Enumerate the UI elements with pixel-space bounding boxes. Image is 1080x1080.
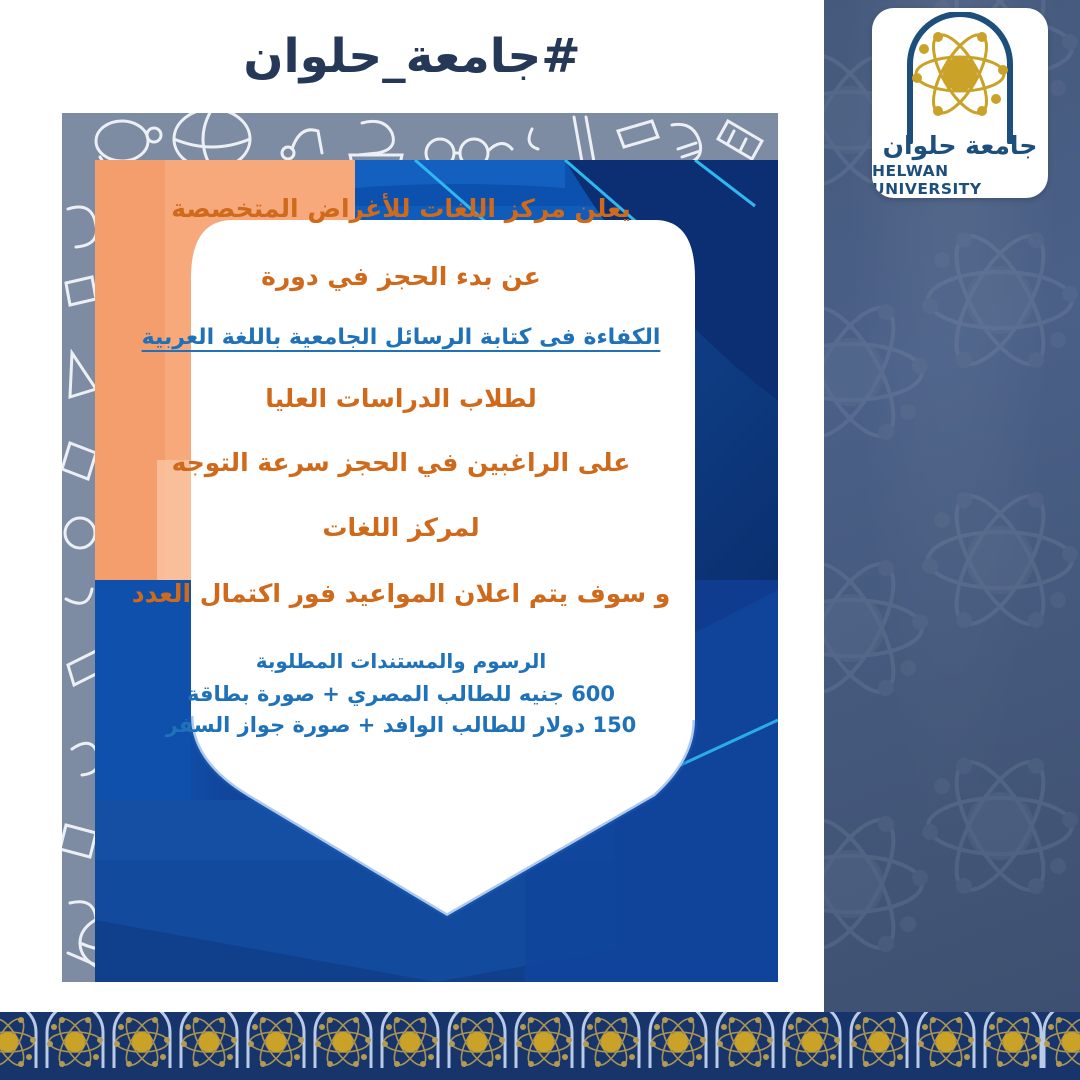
poster-image: arts.helwan.edu.eg LCSP (62, 113, 778, 982)
hashtag-header: #جامعة_حلوان (0, 0, 824, 113)
university-logo-card: جامعة حلوان HELWAN UNIVERSITY (872, 8, 1048, 198)
poster-canvas: #جامعة_حلوان (0, 0, 1080, 1080)
logo-english-name: HELWAN UNIVERSITY (872, 162, 1048, 198)
hashtag-text: #جامعة_حلوان (243, 29, 580, 84)
poster-artwork (95, 160, 778, 982)
bottom-atom-strip (0, 1012, 1080, 1080)
logo-arch-atom (896, 12, 1024, 139)
